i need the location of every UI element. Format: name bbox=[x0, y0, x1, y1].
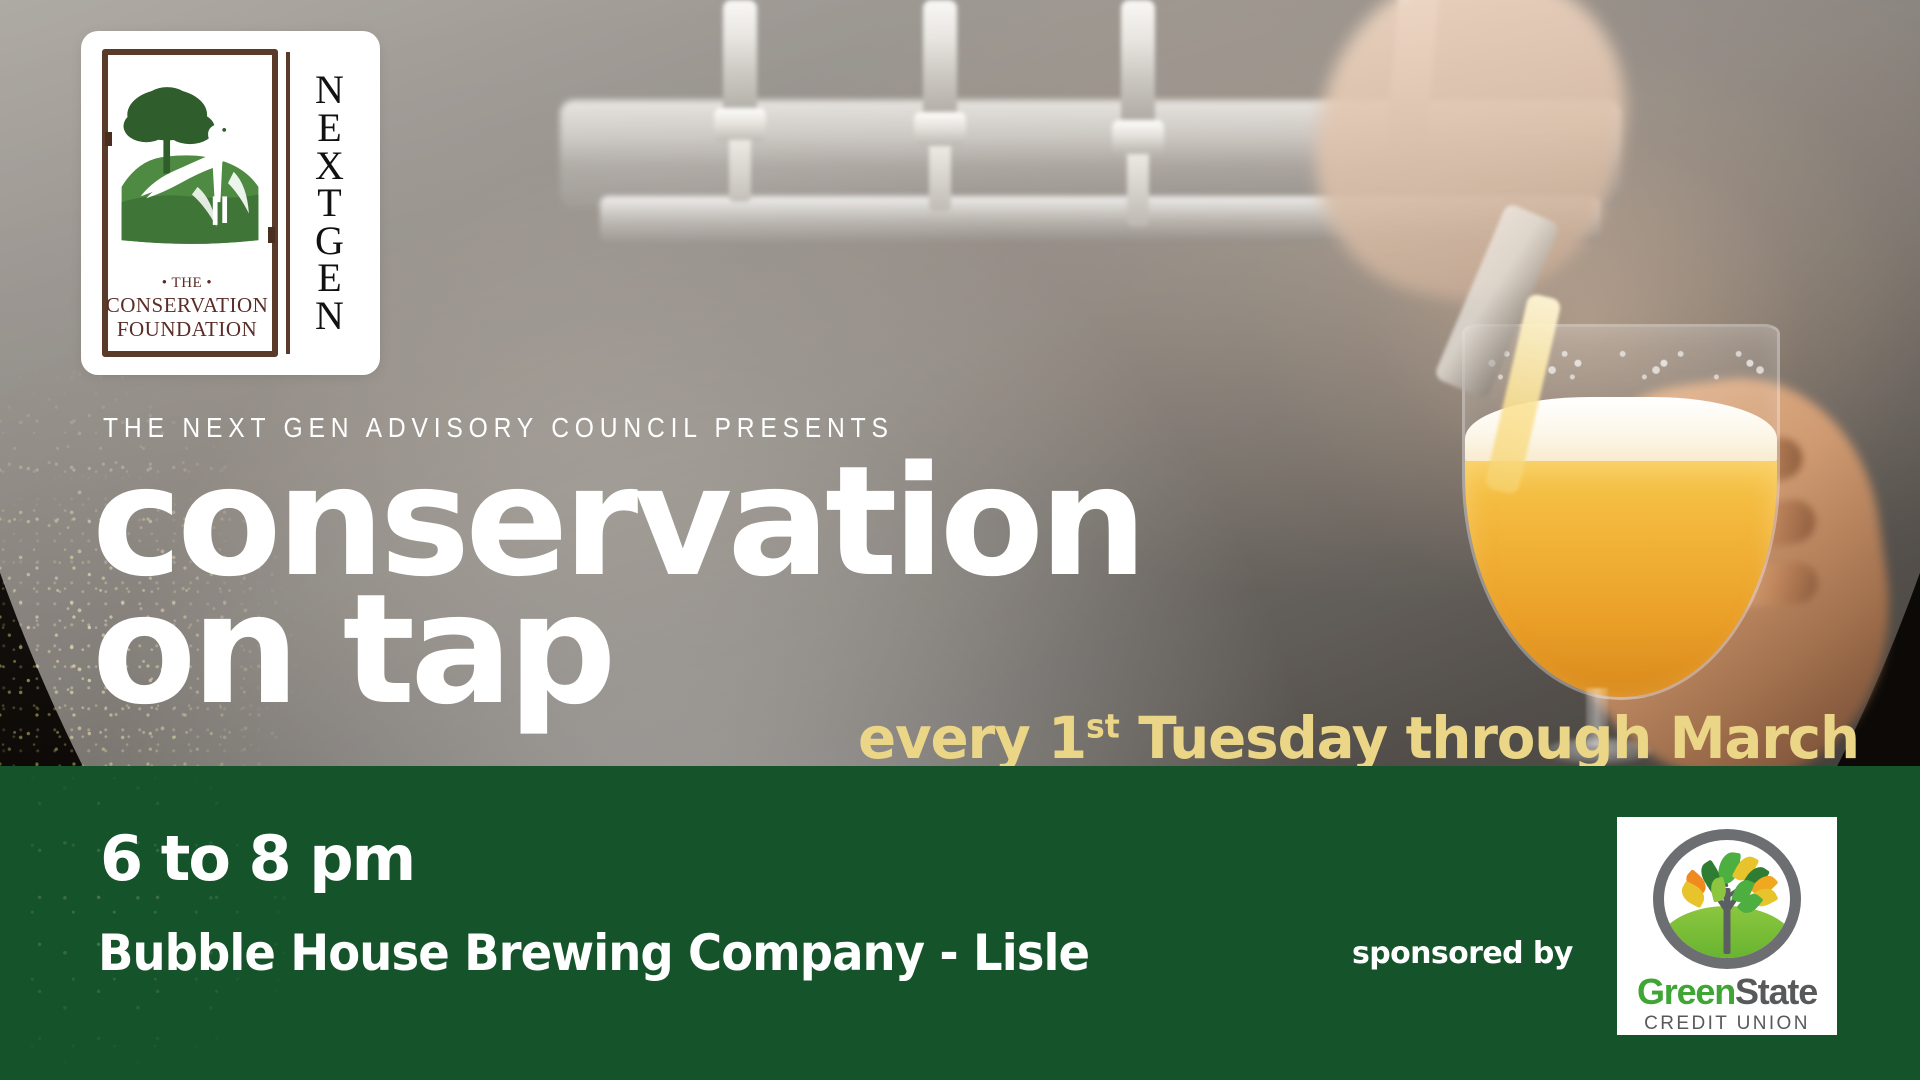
conservation-foundation-logo[interactable]: • THE • CONSERVATION FOUNDATION N E X T … bbox=[88, 38, 373, 368]
band-grain-texture bbox=[0, 766, 530, 1080]
logo-text-foundation: FOUNDATION bbox=[88, 317, 286, 342]
logo-text-the: • THE • bbox=[88, 275, 286, 292]
logo-text-conservation: CONSERVATION bbox=[88, 293, 286, 318]
page-title: conservation on tap bbox=[92, 452, 1142, 720]
tree-in-circle-icon bbox=[1653, 829, 1801, 969]
nextgen-letter: N bbox=[315, 293, 344, 338]
nextgen-panel: N E X T G E N bbox=[286, 38, 373, 368]
logo-outer-ring bbox=[1653, 829, 1801, 969]
logo-artwork-panel: • THE • CONSERVATION FOUNDATION bbox=[88, 38, 286, 368]
logo-illustration bbox=[114, 60, 266, 272]
event-venue: Bubble House Brewing Company - Lisle bbox=[98, 924, 1089, 982]
greenstate-credit-union-logo[interactable]: GreenState CREDIT UNION bbox=[1617, 817, 1837, 1035]
schedule-suffix: Tuesday through March bbox=[1120, 704, 1859, 772]
event-time: 6 to 8 pm bbox=[100, 822, 414, 895]
sponsored-by-label: sponsored by bbox=[1352, 936, 1573, 971]
sponsor-name-part1: Green bbox=[1637, 971, 1735, 1012]
sponsor-name-part2: State bbox=[1735, 971, 1817, 1012]
details-band: 6 to 8 pm Bubble House Brewing Company -… bbox=[0, 766, 1920, 1080]
sponsor-tagline: CREDIT UNION bbox=[1644, 1013, 1810, 1035]
heron-and-tree-icon bbox=[114, 60, 266, 272]
schedule-text: every 1st Tuesday through March bbox=[858, 704, 1859, 772]
schedule-prefix: every bbox=[858, 704, 1048, 772]
event-flyer: • THE • CONSERVATION FOUNDATION N E X T … bbox=[0, 0, 1920, 1080]
schedule-ordinal-number: 1 bbox=[1048, 704, 1086, 772]
sponsor-wordmark: GreenState bbox=[1637, 974, 1817, 1010]
beer-glass-group bbox=[1428, 252, 1868, 782]
schedule-ordinal-suffix: st bbox=[1086, 708, 1120, 746]
nextgen-label: N E X T G E N bbox=[315, 71, 344, 334]
